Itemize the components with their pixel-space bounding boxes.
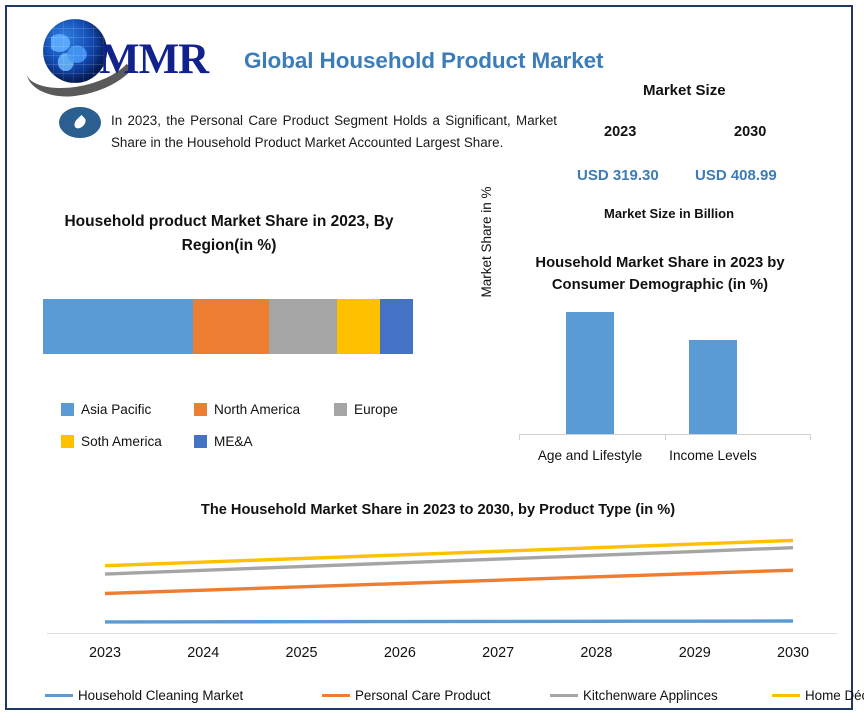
region-stacked-bar — [43, 299, 413, 354]
page-title: Global Household Product Market — [244, 48, 603, 74]
product-type-line-plot — [37, 527, 837, 633]
region-legend-row: Soth AmericaME&A — [61, 430, 421, 452]
region-chart-title: Household product Market Share in 2023, … — [43, 210, 415, 258]
product-type-x-label: 2028 — [556, 645, 636, 661]
product-type-x-label: 2024 — [163, 645, 243, 661]
demographic-bar — [566, 312, 614, 435]
product-type-x-label: 2030 — [753, 645, 833, 661]
mmr-logo: MMR — [21, 13, 201, 85]
product-type-x-axis — [47, 633, 837, 634]
market-size-value-2023: USD 319.30 — [577, 167, 659, 184]
product-type-legend-item: Personal Care Product — [322, 688, 490, 703]
region-legend-item: ME&A — [194, 434, 253, 449]
legend-swatch-icon — [61, 403, 74, 416]
demographic-y-axis-label: Market Share in % — [479, 177, 494, 307]
flame-icon — [59, 107, 101, 138]
region-segment — [337, 299, 380, 354]
product-type-legend-item: Household Cleaning Market — [45, 688, 243, 703]
description-text: In 2023, the Personal Care Product Segme… — [111, 110, 557, 154]
demographic-axis-tick — [519, 434, 520, 440]
product-type-x-label: 2026 — [360, 645, 440, 661]
demographic-category-label: Age and Lifestyle — [520, 448, 660, 463]
region-legend-item: Europe — [334, 402, 398, 417]
region-segment — [380, 299, 413, 354]
demographic-axis-tick — [665, 434, 666, 440]
product-type-x-label: 2027 — [458, 645, 538, 661]
product-type-legend-label: Kitchenware Applinces — [583, 688, 718, 703]
region-legend-item: Soth America — [61, 434, 162, 449]
logo-text: MMR — [99, 35, 208, 84]
region-legend-row: Asia PacificNorth AmericaEurope — [61, 398, 421, 420]
region-legend-label: Europe — [354, 402, 398, 417]
product-type-legend-item: Kitchenware Applinces — [550, 688, 718, 703]
market-size-year-2023: 2023 — [604, 124, 636, 140]
region-legend-item: North America — [194, 402, 300, 417]
product-type-x-label: 2025 — [262, 645, 342, 661]
legend-swatch-icon — [194, 435, 207, 448]
region-legend-item: Asia Pacific — [61, 402, 151, 417]
product-type-line — [105, 621, 793, 622]
legend-swatch-icon — [194, 403, 207, 416]
market-size-heading: Market Size — [643, 82, 726, 99]
product-type-line — [105, 570, 793, 593]
product-type-legend-label: Personal Care Product — [355, 688, 490, 703]
market-size-value-2030: USD 408.99 — [695, 167, 777, 184]
region-chart-legend: Asia PacificNorth AmericaEuropeSoth Amer… — [61, 398, 421, 462]
region-legend-label: Soth America — [81, 434, 162, 449]
product-type-legend: Household Cleaning MarketPersonal Care P… — [45, 685, 835, 705]
product-type-x-label: 2029 — [655, 645, 735, 661]
product-type-x-label: 2023 — [65, 645, 145, 661]
region-segment — [269, 299, 337, 354]
market-size-year-2030: 2030 — [734, 124, 766, 140]
region-legend-label: ME&A — [214, 434, 253, 449]
region-legend-label: Asia Pacific — [81, 402, 151, 417]
legend-swatch-icon — [61, 435, 74, 448]
demographic-bar — [689, 340, 737, 435]
legend-line-icon — [45, 694, 73, 697]
product-type-legend-item: Home Décor — [772, 688, 864, 703]
legend-line-icon — [550, 694, 578, 697]
region-segment — [43, 299, 193, 354]
product-type-legend-label: Home Décor — [805, 688, 864, 703]
region-legend-label: North America — [214, 402, 300, 417]
legend-swatch-icon — [334, 403, 347, 416]
product-type-chart-title: The Household Market Share in 2023 to 20… — [43, 502, 833, 518]
legend-line-icon — [772, 694, 800, 697]
demographic-plot-area — [519, 307, 819, 435]
demographic-axis-tick — [810, 434, 811, 440]
product-type-legend-label: Household Cleaning Market — [78, 688, 243, 703]
market-size-unit: Market Size in Billion — [604, 206, 734, 221]
demographic-chart-title: Household Market Share in 2023 by Consum… — [505, 252, 815, 296]
flame-glyph — [72, 114, 88, 130]
demographic-category-label: Income Levels — [643, 448, 783, 463]
infographic-frame: MMR Global Household Product Market In 2… — [5, 5, 853, 710]
region-segment — [193, 299, 269, 354]
legend-line-icon — [322, 694, 350, 697]
